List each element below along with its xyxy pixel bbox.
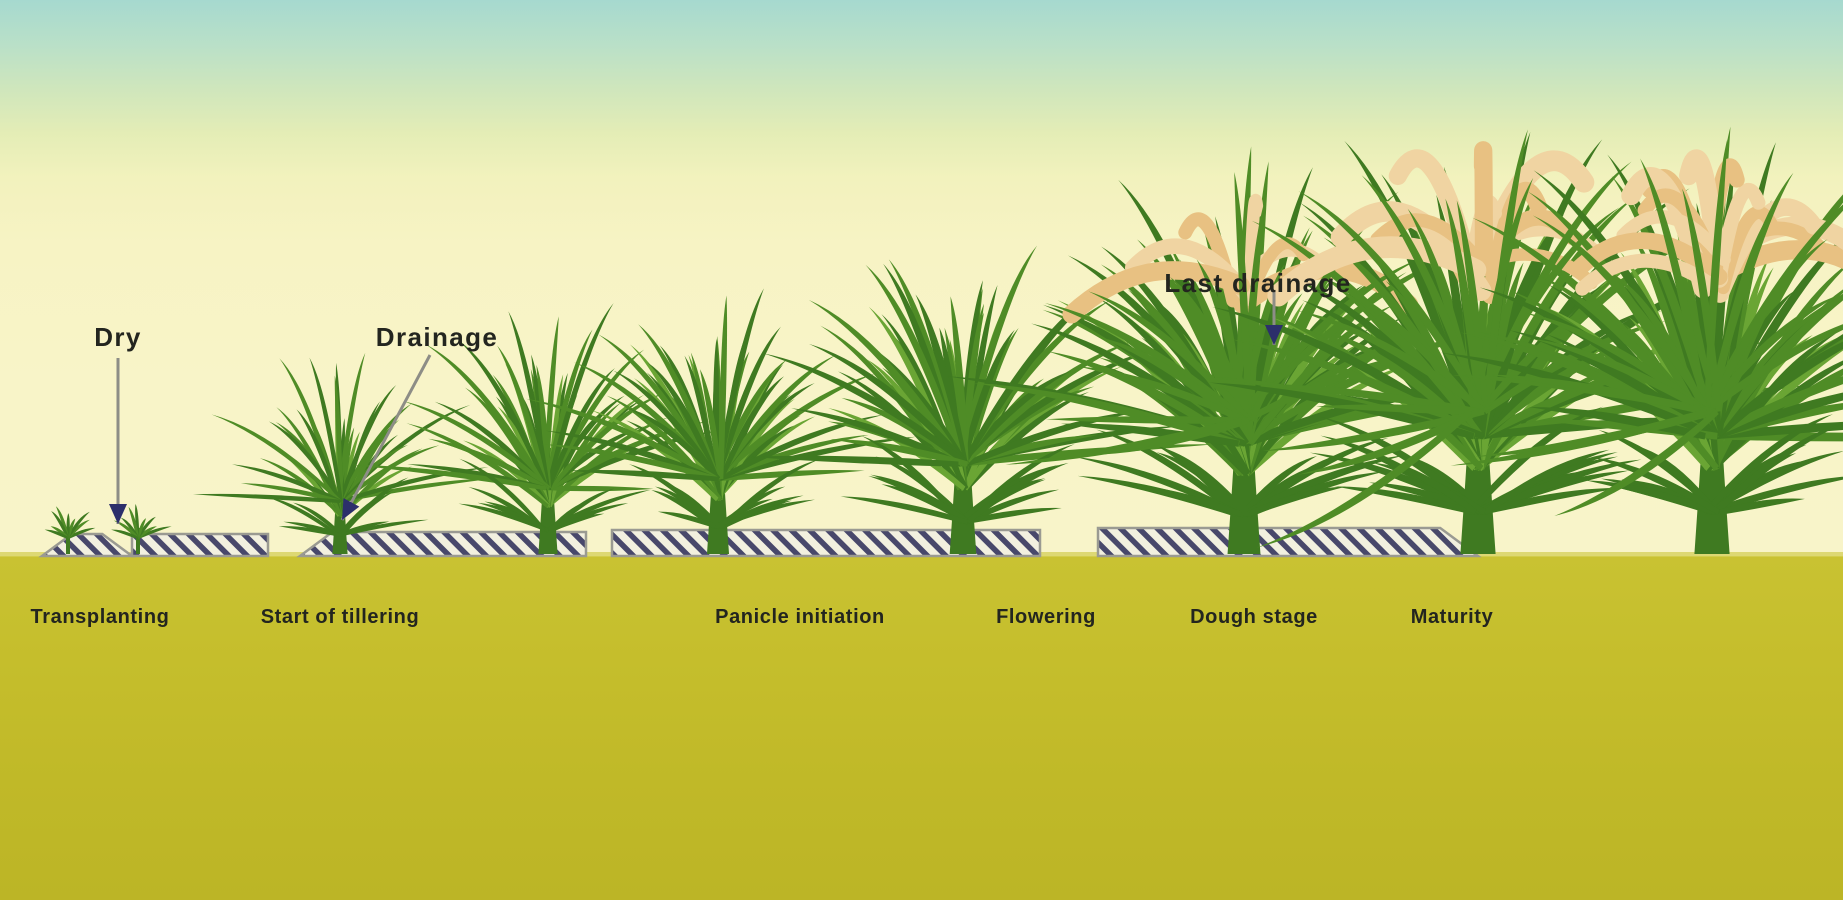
annotation-arrow-drainage xyxy=(342,355,430,520)
stage-label-flowering: Flowering xyxy=(996,606,1096,629)
stage-label-start-of-tillering: Start of tillering xyxy=(261,606,420,629)
arrow-shaft xyxy=(342,355,430,520)
annotation-arrow-last-drainage xyxy=(1265,292,1283,345)
annotation-arrows-layer xyxy=(0,0,1843,900)
arrow-head-icon xyxy=(109,504,127,524)
diagram-canvas: TransplantingStart of tilleringPanicle i… xyxy=(0,0,1843,900)
stage-label-transplanting: Transplanting xyxy=(31,606,170,629)
stage-label-maturity: Maturity xyxy=(1411,606,1494,629)
annotation-label-dry: Dry xyxy=(94,322,142,353)
annotation-label-last-drainage: Last drainage xyxy=(1164,268,1351,299)
stage-label-panicle-initiation: Panicle initiation xyxy=(715,606,885,629)
annotation-label-drainage: Drainage xyxy=(376,322,498,353)
annotation-arrow-dry xyxy=(109,358,127,524)
stage-label-dough-stage: Dough stage xyxy=(1190,606,1318,629)
arrow-head-icon xyxy=(1265,325,1283,345)
